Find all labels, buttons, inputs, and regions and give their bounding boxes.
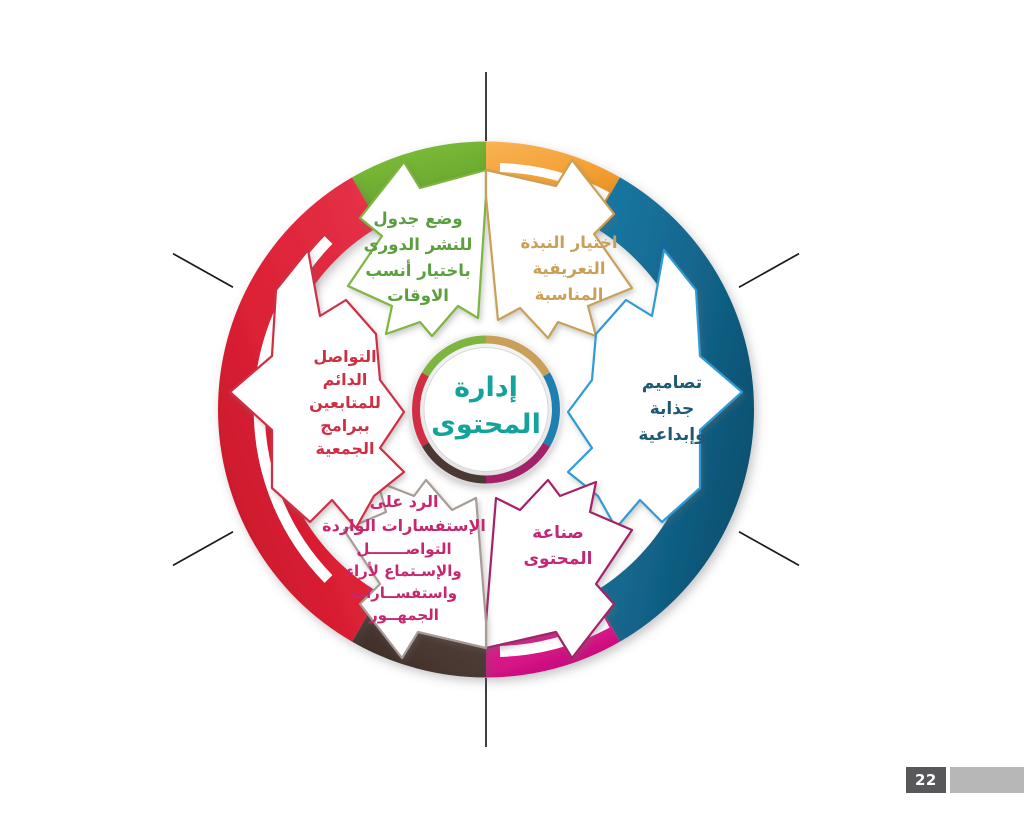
label-red-line-4: الجمعية <box>315 439 374 458</box>
label-blue-line-1: جذابة <box>650 399 695 419</box>
label-brown-line-1: الإستفسارات الواردة <box>322 516 486 535</box>
label-green-line-3: الاوقات <box>387 286 449 306</box>
page-indicator: 22 <box>906 767 1024 793</box>
label-brown-line-5: الجمهــور <box>368 606 439 624</box>
label-red-line-1: الدائم <box>323 370 368 389</box>
label-orange-line-0: اختيار النبذة <box>520 233 617 252</box>
label-magenta-line-1: المحتوى <box>523 549 592 569</box>
divider-line-se <box>739 532 799 566</box>
divider-line-ne <box>739 254 799 288</box>
label-red-line-3: ببرامج <box>320 416 369 435</box>
label-brown-line-2: التواصـــــــل <box>356 540 451 558</box>
label-green-line-1: للنشر الدوري <box>364 235 473 255</box>
label-brown-line-3: والإسـتماع لأراء <box>346 562 461 580</box>
label-orange: اختيار النبذة التعريفية المناسبة <box>520 233 617 304</box>
label-brown-line-4: واستفســارات <box>351 584 457 602</box>
label-orange-line-2: المناسبة <box>535 285 604 304</box>
label-green-line-2: باختيار أنسب <box>365 260 470 280</box>
divider-line-sw <box>173 532 233 566</box>
center-label-line2: المحتوى <box>431 409 541 440</box>
label-blue-line-2: وإبداعية <box>638 425 705 445</box>
label-brown-line-0: الرد على <box>370 492 439 511</box>
page-number: 22 <box>906 767 946 793</box>
label-orange-line-1: التعريفية <box>533 259 606 279</box>
label-red-line-2: للمتابعين <box>309 393 381 412</box>
label-magenta-line-0: صناعة <box>532 523 584 543</box>
center-label-line1: إدارة <box>454 372 518 403</box>
infographic-canvas: إدارة المحتوى وضع جدول للنشر الدوري باخت… <box>0 0 1024 819</box>
divider-line-nw <box>173 254 233 288</box>
label-blue-line-0: تصاميم <box>642 373 702 393</box>
label-green-line-0: وضع جدول <box>373 209 462 229</box>
content-management-wheel: إدارة المحتوى وضع جدول للنشر الدوري باخت… <box>0 0 1024 819</box>
page-indicator-bar <box>950 767 1024 793</box>
label-red-line-0: التواصل <box>313 347 376 366</box>
label-red: التواصل الدائم للمتابعين ببرامج الجمعية <box>309 347 381 458</box>
